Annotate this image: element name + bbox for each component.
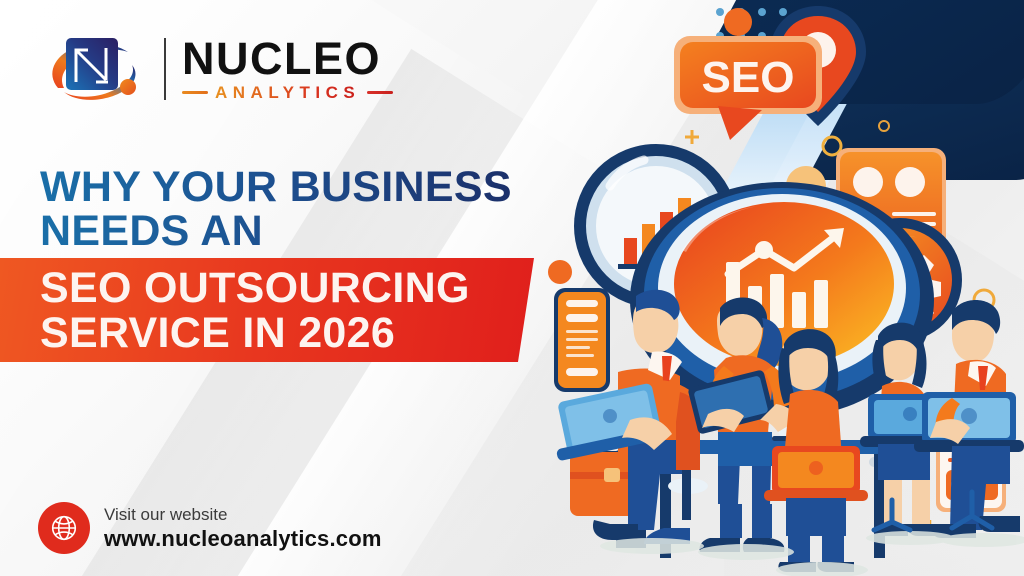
logo-divider — [164, 38, 166, 100]
headline-highlight-text: SEO OUTSOURCING SERVICE IN 2026 — [40, 266, 540, 356]
team-member-seated-right — [914, 300, 1024, 538]
headline-line-2: NEEDS AN — [40, 210, 560, 254]
tagline-rule-left — [182, 91, 208, 94]
nucleo-n-orbit-logo-icon — [44, 30, 148, 108]
logo-wordmark: NUCLEO ANALYTICS — [182, 36, 393, 103]
website-text: Visit our website www.nucleoanalytics.co… — [104, 504, 382, 553]
page-title: WHY YOUR BUSINESS NEEDS AN — [40, 166, 560, 254]
tagline-rule-right — [367, 91, 393, 94]
seo-speech-bubble: SEO — [674, 36, 822, 140]
brand-name: NUCLEO — [182, 36, 393, 81]
brand-tagline: ANALYTICS — [215, 83, 360, 103]
headline-line-1: WHY YOUR BUSINESS — [40, 166, 560, 210]
seo-promo-banner: NUCLEO ANALYTICS WHY YOUR BUSINESS NEEDS… — [0, 0, 1024, 576]
seo-badge-label: SEO — [702, 53, 795, 102]
headline-line-4: SERVICE IN 2026 — [40, 311, 540, 356]
website-callout[interactable]: Visit our website www.nucleoanalytics.co… — [38, 502, 382, 554]
globe-icon — [38, 502, 90, 554]
mobile-phone-icon — [554, 288, 610, 392]
seo-team-illustration: SEO — [532, 0, 1024, 576]
visit-prompt: Visit our website — [104, 504, 382, 525]
brand-tagline-row: ANALYTICS — [182, 83, 393, 103]
headline-line-3: SEO OUTSOURCING — [40, 266, 540, 311]
brand-logo[interactable]: NUCLEO ANALYTICS — [44, 30, 393, 108]
website-url[interactable]: www.nucleoanalytics.com — [104, 525, 382, 553]
